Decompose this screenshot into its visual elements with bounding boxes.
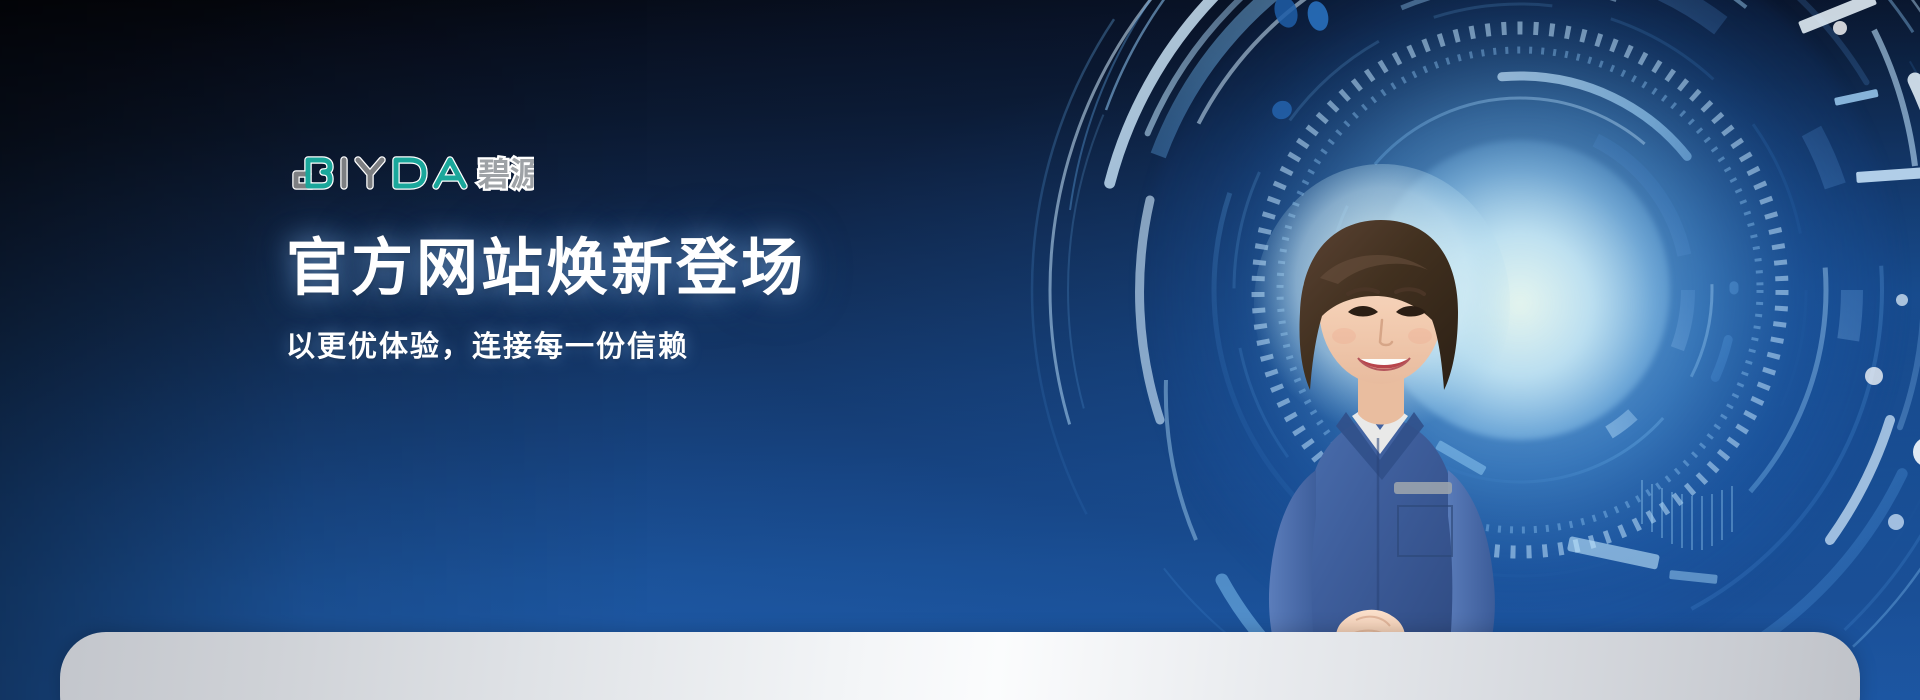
biyda-wordmark-icon: 碧源达 [286,150,534,196]
logo-chinese-name: 碧源达 [478,155,534,193]
orb-core-glow [1370,140,1670,440]
rounded-light-panel [60,632,1860,700]
page-subtitle: 以更优体验，连接每一份信赖 [286,323,1046,365]
orb-arcs [1010,0,1920,700]
hero-content: 碧源达 官方网站焕新登场 以更优体验，连接每一份信赖 [286,150,1046,365]
orb-glow [1140,0,1900,670]
page-title: 官方网站焕新登场 [286,234,1046,303]
tech-circle-graphic [1010,0,1920,700]
female-technician-photo [1170,108,1590,700]
brand-logo[interactable]: 碧源达 [286,150,1046,196]
hero-banner: 碧源达 官方网站焕新登场 以更优体验，连接每一份信赖 [0,0,1920,700]
